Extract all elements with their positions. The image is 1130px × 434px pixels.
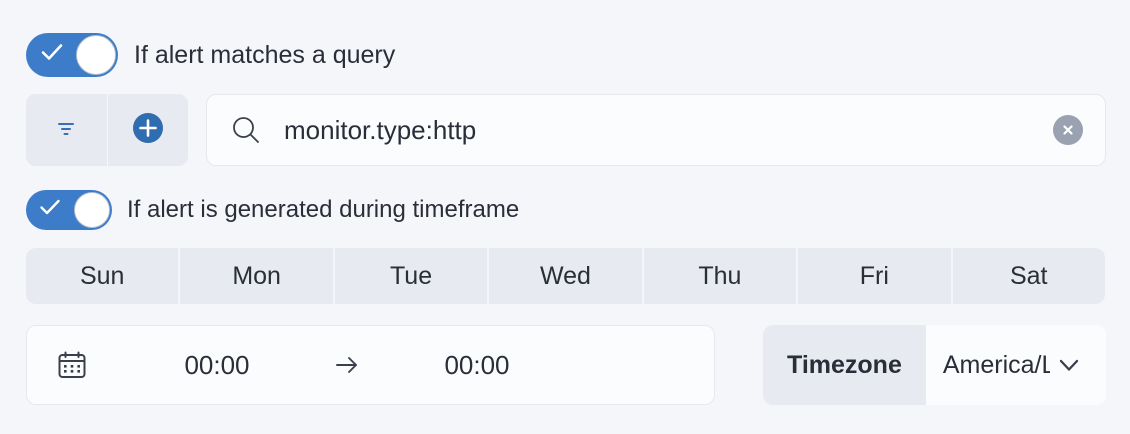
- filter-button[interactable]: [26, 94, 107, 166]
- query-search-value: monitor.type:http: [284, 115, 1053, 146]
- filter-icon: [52, 114, 80, 147]
- day-selector: Sun Mon Tue Wed Thu Fri Sat: [26, 248, 1105, 304]
- timeframe-condition-row: If alert is generated during timeframe: [26, 190, 519, 230]
- timezone-select[interactable]: America/Los_Angeles: [926, 325, 1106, 405]
- timeframe-condition-label: If alert is generated during timeframe: [127, 196, 519, 224]
- day-label: Sun: [80, 262, 124, 291]
- check-icon: [39, 40, 65, 71]
- check-icon: [38, 196, 62, 225]
- query-controls: [26, 94, 188, 166]
- day-label: Mon: [232, 262, 281, 291]
- day-button-fri[interactable]: Fri: [796, 248, 950, 304]
- time-from-value[interactable]: 00:00: [117, 350, 317, 381]
- query-search-field[interactable]: monitor.type:http: [206, 94, 1106, 166]
- day-label: Fri: [860, 262, 889, 291]
- toggle-knob: [74, 192, 110, 228]
- timezone-control: Timezone America/Los_Angeles: [763, 325, 1106, 405]
- calendar-icon: [55, 348, 89, 382]
- timezone-label: Timezone: [763, 325, 926, 405]
- day-button-wed[interactable]: Wed: [487, 248, 641, 304]
- day-button-sat[interactable]: Sat: [951, 248, 1105, 304]
- chevron-down-icon: [1054, 350, 1084, 380]
- day-button-tue[interactable]: Tue: [333, 248, 487, 304]
- query-condition-toggle[interactable]: [26, 33, 118, 77]
- toggle-knob: [76, 35, 116, 75]
- conditions-panel: If alert matches a query: [0, 0, 1130, 434]
- query-condition-label: If alert matches a query: [134, 41, 395, 70]
- close-circle-icon[interactable]: [1053, 115, 1083, 145]
- time-range-field[interactable]: 00:00 00:00: [26, 325, 715, 405]
- day-label: Thu: [698, 262, 741, 291]
- timeframe-condition-toggle[interactable]: [26, 190, 112, 230]
- time-to-value[interactable]: 00:00: [377, 350, 577, 381]
- timezone-value: America/Los_Angeles: [943, 351, 1050, 380]
- day-button-sun[interactable]: Sun: [26, 248, 178, 304]
- day-label: Sat: [1010, 262, 1048, 291]
- query-icon-group: [26, 94, 188, 166]
- day-label: Tue: [390, 262, 432, 291]
- day-label: Wed: [540, 262, 591, 291]
- day-button-mon[interactable]: Mon: [178, 248, 332, 304]
- arrow-right-icon: [317, 349, 377, 381]
- add-query-button[interactable]: [107, 94, 189, 166]
- search-icon: [229, 113, 263, 147]
- query-condition-row: If alert matches a query: [26, 33, 395, 77]
- day-button-thu[interactable]: Thu: [642, 248, 796, 304]
- plus-circle-icon: [131, 111, 165, 150]
